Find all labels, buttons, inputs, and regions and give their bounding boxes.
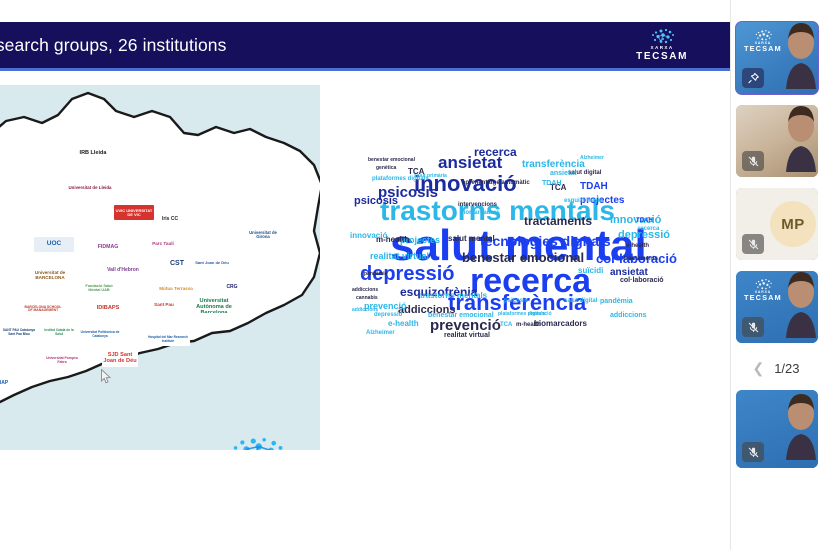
word-cloud-term: e-health	[626, 243, 649, 249]
word-cloud-term: m-health	[516, 322, 541, 328]
participant-video-5[interactable]	[736, 390, 818, 468]
institution-logo: Sant Pau	[146, 297, 182, 313]
catalonia-map-panel: IRB LleidaUniversitat de LleidaUVIC UNIV…	[0, 85, 320, 450]
tile-logo-tecsam: TECSAM	[744, 45, 782, 54]
word-cloud-term: recerca	[474, 146, 517, 158]
word-cloud-term: realitat virtual	[444, 332, 490, 339]
institution-logo: Hospital del Mar Research Institute	[146, 333, 190, 346]
institution-logo: UVIC UNIVERSITAT DE VIC	[114, 205, 154, 220]
institution-logo: Vall d'Hebron	[102, 263, 144, 278]
chevron-left-icon[interactable]: ❮	[752, 360, 764, 377]
word-cloud-term: aprenentatge automàtic	[462, 180, 530, 186]
tile-tecsam-logo: XARXATECSAM	[744, 278, 782, 303]
word-cloud-term: TDAH	[542, 180, 561, 187]
institution-logo: Universitat de BARCELONA	[26, 267, 74, 284]
institution-logo: Sant Joan de Déu	[192, 255, 232, 271]
word-cloud-term: TDAH	[636, 218, 653, 224]
word-cloud-term: psicosis	[354, 196, 398, 207]
participant-video-2[interactable]	[736, 105, 818, 177]
tecsam-network-icon	[647, 28, 677, 45]
participant-webcam-image	[776, 22, 818, 94]
word-cloud-term: biomarcadors	[534, 320, 587, 328]
avatar: MP	[770, 201, 816, 247]
word-cloud-term: cannabis	[356, 296, 378, 301]
mic-off-icon[interactable]	[742, 234, 764, 254]
institution-logo: FIDMAG	[88, 240, 128, 256]
institution-logo: IRB Lleida	[74, 147, 112, 161]
slide-header-bar: esearch groups, 26 institutions	[0, 22, 730, 68]
word-cloud: salut mentaltrastorns mentalsrecercatran…	[352, 140, 704, 355]
word-cloud-term: benestar emocional	[368, 158, 415, 163]
shared-slide[interactable]: esearch groups, 26 institutions	[0, 0, 730, 550]
word-cloud-term: genètica	[376, 166, 396, 171]
word-cloud-term: recerca	[638, 226, 659, 232]
institution-logo: Iris CC	[156, 213, 184, 225]
header-tecsam-logo: XARXA TECSAM	[636, 28, 688, 62]
institution-logo: CST	[164, 257, 190, 269]
word-cloud-term: realitat virtual	[370, 252, 429, 261]
word-cloud-term: TCA	[500, 322, 512, 328]
word-cloud-term: prevenció	[528, 312, 552, 317]
institution-logo: BARCELONA SCHOOL OF MANAGEMENT	[22, 301, 64, 317]
participant-avatar-mp[interactable]: MP	[736, 188, 818, 260]
institution-logo: Universitat Pompeu Fabra	[42, 353, 82, 368]
tile-tecsam-logo: XARXATECSAM	[744, 29, 782, 54]
word-cloud-term: salut primària	[414, 174, 447, 179]
participant-video-4[interactable]: XARXATECSAM	[736, 271, 818, 343]
word-cloud-term: col·laboració	[620, 277, 664, 284]
institution-logo: Fundació Salut Mental UAB	[80, 281, 118, 296]
institution-logo: Universitat de Lleida	[68, 181, 112, 195]
word-cloud-term: benestar emocional	[462, 251, 584, 264]
word-cloud-term: addiccions	[352, 288, 378, 293]
institution-logo: Parc Taulí	[144, 237, 182, 251]
word-cloud-term: addiccions	[352, 308, 378, 313]
participant-video-1[interactable]: XARXATECSAM	[736, 22, 818, 94]
participant-webcam-image	[776, 105, 818, 177]
word-cloud-term: tecnologies digitals	[480, 234, 611, 248]
institution-logo: Institut Català de la Salut	[42, 325, 76, 340]
word-cloud-term: TDAH	[580, 182, 608, 192]
participants-rail[interactable]: XARXATECSAMMPXARXATECSAM ❮ 1/23	[730, 0, 820, 550]
participant-webcam-image	[776, 271, 818, 343]
institution-logo: IAP	[0, 377, 16, 390]
word-cloud-term: tractaments	[524, 215, 592, 227]
word-cloud-term: benestar emocional	[428, 312, 494, 319]
institution-logo: SJD Sant Joan de Déu	[102, 351, 138, 367]
word-cloud-term: pandèmia	[364, 272, 387, 277]
word-cloud-term: addiccions	[610, 312, 647, 319]
word-cloud-term: salut digital	[564, 298, 597, 304]
participants-pager[interactable]: ❮ 1/23	[731, 355, 820, 381]
meeting-screen-share-view: esearch groups, 26 institutions	[0, 0, 820, 550]
slide-title: esearch groups, 26 institutions	[0, 35, 226, 56]
header-logo-tecsam: TECSAM	[636, 52, 688, 62]
word-cloud-term: pandèmia	[600, 298, 633, 305]
word-cloud-term: biomarcadors	[460, 210, 500, 216]
institution-logo: UOC	[34, 237, 74, 252]
word-cloud-term: intervencions	[458, 202, 497, 208]
institution-logo: CRG	[218, 281, 246, 294]
word-cloud-term: Alzheimer	[366, 330, 395, 336]
pager-counter: 1/23	[774, 361, 799, 376]
mouse-cursor	[101, 369, 112, 384]
slide-tecsam-logo: XARXA TECSAM	[210, 437, 302, 450]
institution-logo: Universitat de Girona	[242, 227, 284, 243]
word-cloud-term: tractaments	[624, 256, 658, 262]
word-cloud-term: suïcidi	[578, 267, 603, 275]
word-cloud-term: transferència	[522, 160, 585, 170]
word-cloud-term: innovació	[350, 232, 387, 240]
word-cloud-term: esquizofrènia	[564, 198, 603, 204]
institution-logo: IDIBAPS	[88, 301, 128, 316]
word-cloud-term: depressió	[374, 312, 402, 318]
catalonia-map-outline	[0, 85, 320, 421]
institution-logo: Mútua Terrassa	[156, 283, 196, 296]
word-cloud-term: psicosis	[504, 298, 528, 304]
tecsam-network-icon	[210, 437, 302, 450]
institution-logo: UAB Universitat Autònoma de Barcelona	[194, 297, 234, 313]
institution-logo: Universitat Politècnica de Catalunya	[80, 327, 120, 342]
mic-off-icon[interactable]	[742, 442, 764, 462]
word-cloud-term: prevenció	[430, 318, 501, 333]
pin-icon[interactable]	[742, 68, 764, 88]
mic-off-icon[interactable]	[742, 317, 764, 337]
word-cloud-term: Alzheimer	[580, 156, 604, 161]
word-cloud-term: salut mental	[448, 235, 495, 243]
word-cloud-term: e-health	[388, 320, 419, 328]
tile-logo-tecsam: TECSAM	[744, 294, 782, 303]
institution-logo: SANT PAU Catalunya Sant Pau Blau	[2, 325, 36, 340]
word-cloud-term: ansietat	[550, 170, 576, 177]
mic-off-icon[interactable]	[742, 151, 764, 171]
participant-webcam-image	[776, 390, 818, 468]
word-cloud-term: trastorns mentals	[420, 292, 487, 300]
